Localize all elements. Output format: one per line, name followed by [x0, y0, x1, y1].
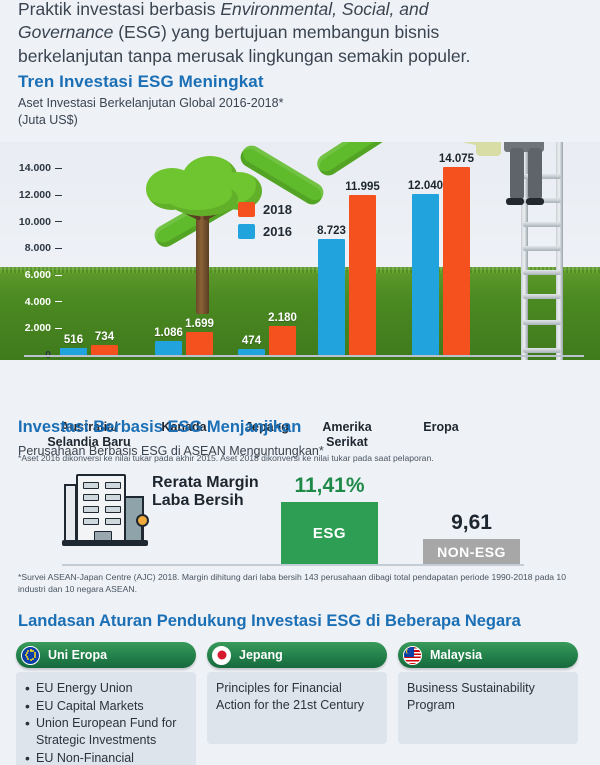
esg-profit-section: Investasi Berbasis ESG Menjanjikan Perus… [0, 418, 600, 604]
metric-label-line1: Rerata Margin [152, 474, 259, 491]
chart-subtitle-line1: Aset Investasi Berkelanjutan Global 2016… [18, 96, 283, 110]
bar-value-label: 516 [64, 334, 83, 346]
bar-2018-jepang: 2.180 [269, 326, 296, 355]
bar-2016-kanada: 1.086 [155, 341, 182, 355]
chart-section: Tren Investasi ESG Meningkat Aset Invest… [0, 60, 600, 360]
bar-value-label: 1.699 [185, 318, 214, 330]
esg-section-subtitle: Perusahaan Berbasis ESG di ASEAN Mengunt… [18, 444, 324, 458]
intro-line1-italic: Environmental, Social, and [220, 0, 428, 19]
japan-flag-icon [212, 646, 231, 665]
x-axis-line [24, 355, 584, 357]
chart-plot-area: 02.0004.0006.0008.00010.00012.00014.000 … [0, 142, 600, 360]
bar-2016-eropa: 12.040 [412, 194, 439, 355]
building-base [62, 540, 148, 546]
regulation-section: Landasan Aturan Pendukung Investasi ESG … [0, 612, 600, 765]
esg-bar-label: ESG [313, 525, 346, 542]
country-card-header[interactable]: Malaysia [398, 642, 578, 668]
country-card-body: Business Sustainability Program [398, 672, 578, 744]
bar-value-label: 8.723 [317, 225, 346, 237]
bar-value-label: 1.086 [154, 327, 183, 339]
intro-line2-italic: Governance [18, 22, 113, 42]
bar-2016-amerikaserikat: 8.723 [318, 239, 345, 355]
country-card-name: Jepang [239, 648, 283, 662]
nonesg-bar-label: NON-ESG [437, 544, 506, 560]
list-item: Union European Fund for Strategic Invest… [25, 715, 187, 748]
bar-2018-eropa: 14.075 [443, 167, 470, 355]
eu-flag-icon [21, 646, 40, 665]
country-card-text: Principles for Financial Action for the … [216, 680, 378, 713]
country-card-header[interactable]: Uni Eropa [16, 642, 196, 668]
country-card-name: Malaysia [430, 648, 482, 662]
metric-label: Rerata Margin Laba Bersih [152, 474, 267, 511]
building-window [83, 506, 99, 513]
street-lamp-icon [136, 514, 149, 527]
country-card-name: Uni Eropa [48, 648, 107, 662]
bar-2018-amerikaserikat: 11.995 [349, 195, 376, 355]
building-window [105, 506, 121, 513]
chart-legend: 2018 2016 [238, 202, 292, 246]
country-card-malaysia[interactable]: MalaysiaBusiness Sustainability Program [398, 642, 578, 744]
country-card-header[interactable]: Jepang [207, 642, 387, 668]
country-card-uni-eropa[interactable]: Uni EropaEU Energy UnionEU Capital Marke… [16, 642, 196, 765]
bar-value-label: 14.075 [439, 153, 474, 165]
nonesg-value: 9,61 [423, 511, 520, 535]
bar-2016-australiaselandiabaru: 516 [60, 348, 87, 355]
bar-value-label: 474 [242, 335, 261, 347]
intro-line1-plain: Praktik investasi berbasis [18, 0, 220, 19]
esg-footnote: *Survei ASEAN-Japan Centre (AJC) 2018. M… [18, 572, 584, 596]
bar-2018-kanada: 1.699 [186, 332, 213, 355]
esg-bar: ESG [281, 502, 378, 564]
intro-paragraph: Praktik investasi berbasis Environmental… [18, 0, 488, 68]
bar-2018-australiaselandiabaru: 734 [91, 345, 118, 355]
list-item: EU Energy Union [25, 680, 187, 697]
legend-entry-2018: 2018 [238, 202, 292, 217]
building-icon [62, 470, 148, 546]
list-item: EU Non-Financial [25, 750, 187, 765]
regulation-section-title: Landasan Aturan Pendukung Investasi ESG … [18, 612, 521, 631]
legend-entry-2016: 2016 [238, 224, 292, 239]
country-card-body: Principles for Financial Action for the … [207, 672, 387, 744]
building-window [83, 518, 99, 525]
bar-value-label: 12.040 [408, 180, 443, 192]
legend-swatch-2016 [238, 224, 255, 239]
country-card-body: EU Energy UnionEU Capital MarketsUnion E… [16, 672, 196, 765]
country-card-list: EU Energy UnionEU Capital MarketsUnion E… [25, 680, 187, 765]
building-window [105, 518, 121, 525]
country-card-jepang[interactable]: JepangPrinciples for Financial Action fo… [207, 642, 387, 744]
building-main-block [76, 474, 126, 542]
building-window [83, 494, 99, 501]
malaysia-flag-icon [403, 646, 422, 665]
bar-value-label: 11.995 [345, 181, 380, 193]
intro-line2-plain: (ESG) yang bertujuan membangun bisnis [113, 22, 439, 42]
esg-footnote-line1: *Survei ASEAN-Japan Centre (AJC) 2018. M… [18, 572, 458, 582]
infographic-page: Praktik investasi berbasis Environmental… [0, 0, 600, 765]
bar-value-label: 734 [95, 331, 114, 343]
country-card-text: Business Sustainability Program [407, 680, 569, 713]
chart-subtitle-line2: (Juta US$) [18, 113, 78, 127]
chart-subtitle: Aset Investasi Berkelanjutan Global 2016… [18, 95, 283, 129]
esg-section-title: Investasi Berbasis ESG Menjanjikan [18, 418, 301, 437]
esg-baseline [62, 564, 524, 566]
list-item: EU Capital Markets [25, 698, 187, 715]
building-window [105, 482, 121, 489]
legend-label-2018: 2018 [263, 202, 292, 217]
legend-swatch-2018 [238, 202, 255, 217]
building-window [105, 494, 121, 501]
nonesg-bar: NON-ESG [423, 539, 520, 564]
building-window [83, 482, 99, 489]
bar-series-container: 5167341.0861.6994742.1808.72311.99512.04… [0, 142, 600, 360]
metric-label-line2: Laba Bersih [152, 492, 244, 509]
chart-title: Tren Investasi ESG Meningkat [18, 72, 264, 92]
esg-value: 11,41% [281, 474, 378, 498]
legend-label-2016: 2016 [263, 224, 292, 239]
bar-value-label: 2.180 [268, 312, 297, 324]
